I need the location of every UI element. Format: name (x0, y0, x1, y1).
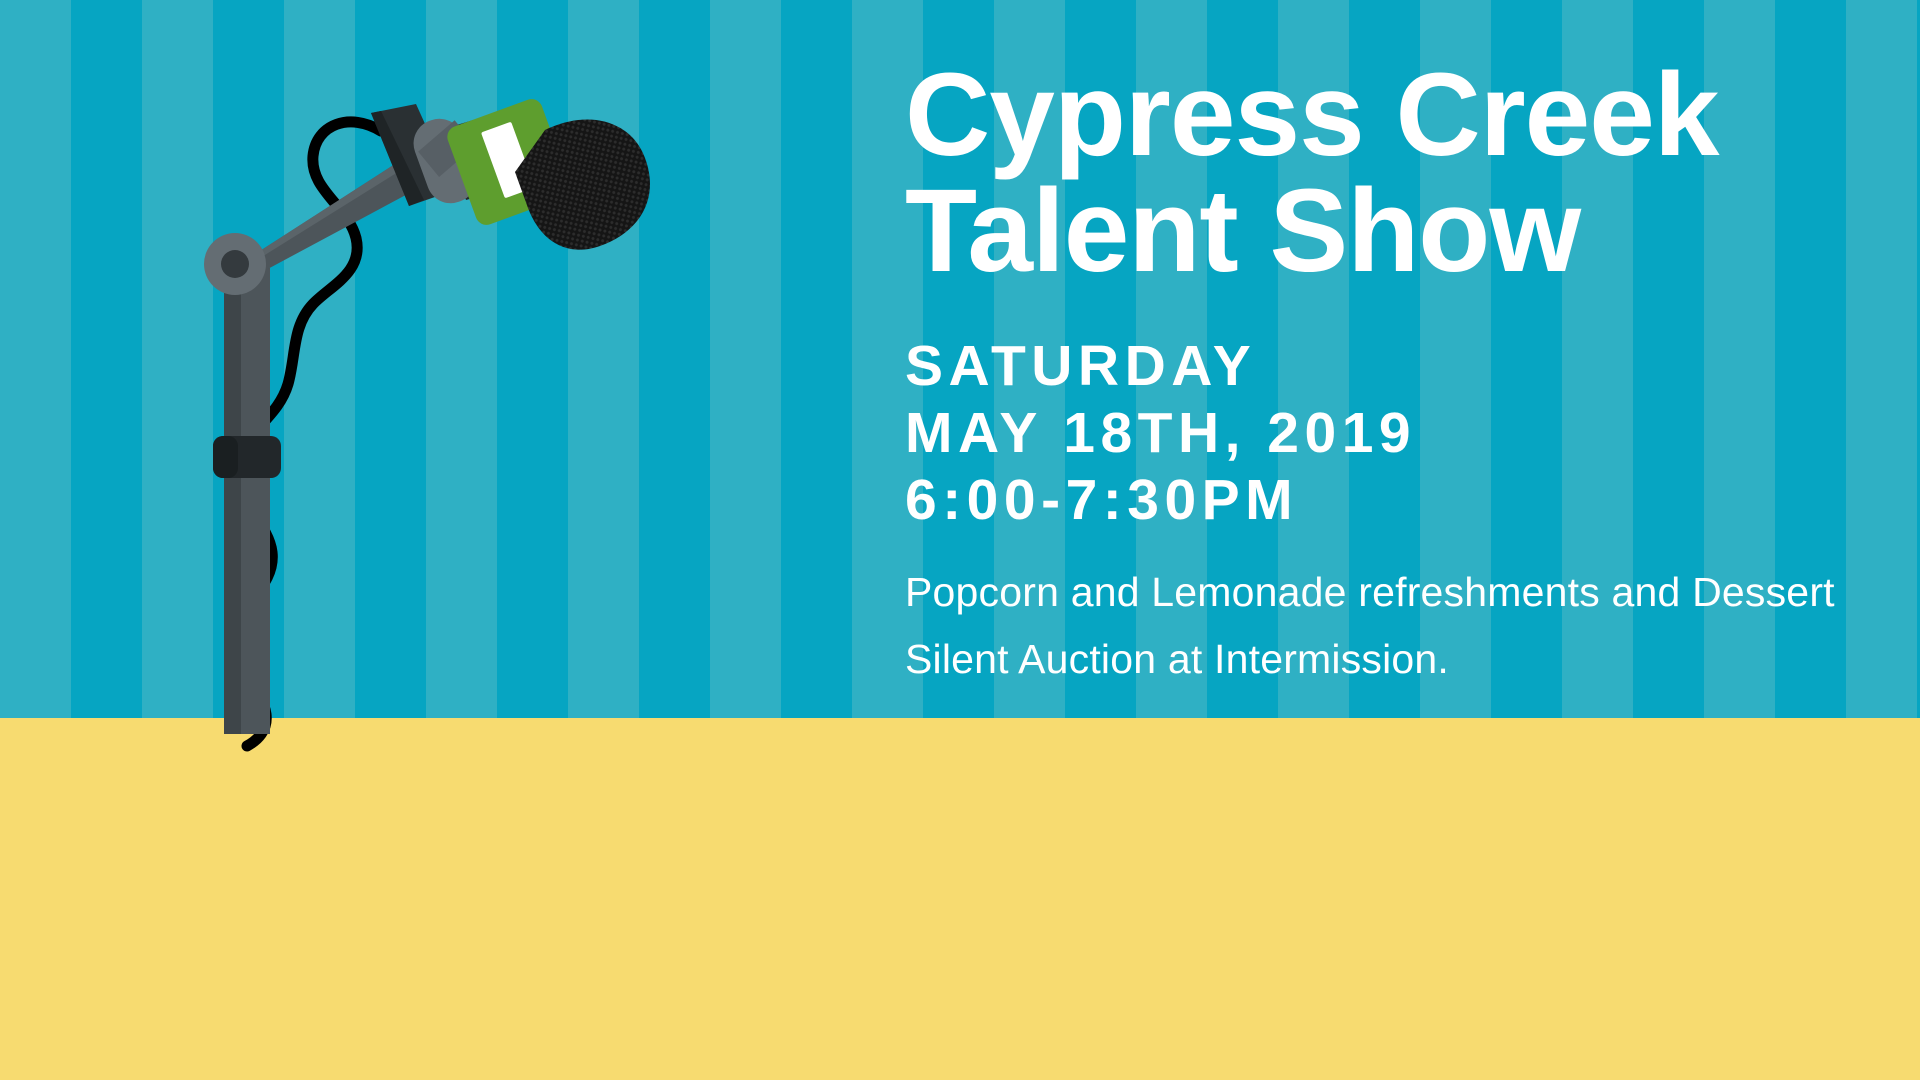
date-line-date: MAY 18TH, 2019 (905, 400, 1885, 467)
text-column: Cypress Creek Talent Show SATURDAY MAY 1… (905, 58, 1885, 733)
date-line-time: 6:00-7:30PM (905, 467, 1885, 534)
event-description: Popcorn and Lemonade refreshments and De… (905, 559, 1855, 692)
title-line-2: Talent Show (905, 174, 1885, 290)
title-line-1: Cypress Creek (905, 58, 1885, 174)
stand-pole (224, 268, 270, 734)
event-date-time: SATURDAY MAY 18TH, 2019 6:00-7:30PM (905, 333, 1885, 533)
microphone-illustration (0, 0, 820, 960)
boom-joint (204, 233, 266, 295)
pole-clamp (213, 436, 281, 478)
page-title: Cypress Creek Talent Show (905, 58, 1885, 289)
event-flyer: Cypress Creek Talent Show SATURDAY MAY 1… (0, 0, 1920, 1080)
date-line-day: SATURDAY (905, 333, 1885, 400)
